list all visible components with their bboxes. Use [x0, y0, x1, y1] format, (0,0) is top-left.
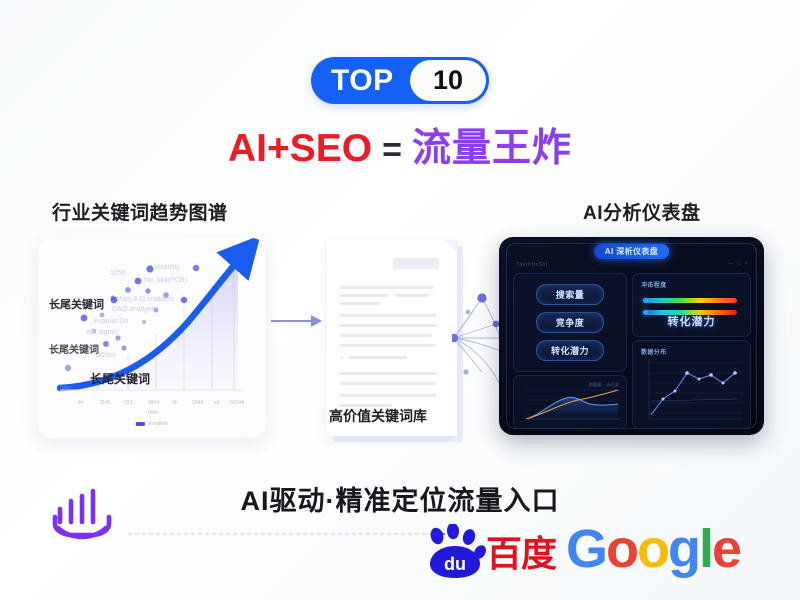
- top-badge-number-chip: 10: [410, 60, 486, 101]
- axis-tick-5: 4h: [172, 400, 178, 406]
- google-logo: Google: [566, 522, 740, 576]
- right-section-caption: AI分析仪表盘: [583, 198, 701, 225]
- axis-tick-1: 4h: [78, 400, 84, 406]
- gauge-panel-title: 冲击程度: [641, 280, 667, 289]
- page-fold-corner-icon: [444, 240, 457, 253]
- ghost-word-9: 250: [60, 386, 72, 393]
- ghost-word-2: No. slot(PCR): [144, 277, 187, 284]
- funnel-bar-chart-icon: [48, 484, 116, 550]
- keyword-label-1: 长尾关键词: [49, 296, 104, 312]
- top-badge-number: 10: [433, 67, 463, 94]
- doc-header-block: [393, 258, 439, 269]
- legend-label: trendline: [149, 421, 168, 427]
- google-letter-o1: o: [606, 519, 637, 579]
- ai-dashboard: AI 深析仪表盘 Thetx'trxStit — □ × 搜索量 竞争度 转化潜…: [499, 237, 764, 435]
- keyword-trend-chart-card: 长尾关键词 长尾关键词 长尾关键词 Volatility No. slot(PC…: [38, 238, 266, 438]
- keyword-label-3: 长尾关键词: [90, 370, 150, 387]
- gauge-overlay-label: 转化潜力: [668, 313, 716, 329]
- headline-right: 流量王炸: [412, 127, 572, 170]
- axis-tick-8: 3024A: [230, 400, 244, 406]
- google-letter-g1: G: [566, 519, 606, 579]
- keyword-label-2: 长尾关键词: [49, 341, 99, 356]
- footer-slogan: AI驱动·精准定位流量入口: [0, 479, 800, 518]
- axis-tick-6: 1044: [192, 400, 203, 406]
- dashed-flow-rail: [128, 528, 458, 540]
- top-badge-label: TOP: [331, 66, 394, 96]
- baidu-wordmark: 百度: [486, 536, 556, 572]
- page-title: AI+SEO=流量王炸: [0, 128, 800, 171]
- gauge-bar-primary: [645, 298, 737, 303]
- baidu-logo: du 百度: [424, 524, 564, 582]
- area-chart-panel: 销量量 · 访问量: [513, 375, 627, 429]
- legend-swatch: [136, 422, 145, 426]
- dashboard-subtitle: Thetx'trxStit: [516, 262, 547, 268]
- top-rank-badge: TOP 10: [311, 57, 489, 104]
- gauge-marker-2: [643, 310, 648, 315]
- metric-pill-conversion[interactable]: 转化潜力: [536, 340, 604, 361]
- ghost-word-7: oChrin: [96, 352, 117, 359]
- axis-tick-3: 03:L: [124, 400, 134, 406]
- area-chart-plot: [514, 376, 626, 428]
- ghost-word-6: eCr-dgmn: [86, 329, 117, 336]
- axis-tick-2: 1145: [100, 400, 111, 406]
- poster-canvas: TOP 10 AI+SEO=流量王炸 行业关键词趋势图谱 AI分析仪表盘: [0, 0, 800, 600]
- svg-text:du: du: [444, 554, 466, 574]
- ghost-word-5: eupouo Dn: [94, 318, 128, 325]
- ghost-word-8: 1250: [110, 270, 126, 277]
- google-letter-o2: o: [637, 519, 668, 579]
- headline-left: AI+SEO: [228, 127, 372, 170]
- axis-tick-4: 1844: [148, 400, 159, 406]
- distribution-line-plot: [633, 341, 750, 428]
- ghost-word-3: Main,3.0) enablers: [116, 296, 174, 303]
- document-caption: 高价值关键词库: [329, 406, 427, 426]
- impact-gauge-panel: 冲击程度 转化潜力: [632, 273, 751, 337]
- left-section-caption: 行业关键词趋势图谱: [52, 198, 228, 225]
- google-letter-l: l: [699, 519, 712, 579]
- baidu-paw-icon: du: [424, 524, 486, 580]
- metric-pill-search-volume[interactable]: 搜索量: [536, 284, 604, 305]
- ghost-word-1: Volatility: [154, 264, 180, 271]
- metric-pills-panel: 搜索量 竞争度 转化潜力: [513, 273, 627, 372]
- google-letter-e: e: [712, 519, 740, 579]
- google-letter-g2: g: [668, 519, 699, 579]
- dashboard-title-badge: AI 深析仪表盘: [594, 244, 669, 259]
- chart-legend: trendline: [136, 421, 168, 427]
- flow-arrow-icon: [270, 313, 322, 329]
- headline-operator: =: [382, 131, 402, 169]
- chart-x-axis-title: -Eltm: [146, 410, 158, 416]
- distribution-chart-panel: 数据分布: [632, 340, 751, 429]
- metric-pill-competition[interactable]: 竞争度: [536, 312, 604, 333]
- axis-tick-7: sif: [214, 400, 219, 406]
- gauge-marker-1: [643, 298, 648, 303]
- window-controls[interactable]: — □ ×: [728, 261, 749, 267]
- trend-chart-plot: [38, 238, 266, 438]
- ghost-word-4: DAQ analtyne: [112, 306, 156, 313]
